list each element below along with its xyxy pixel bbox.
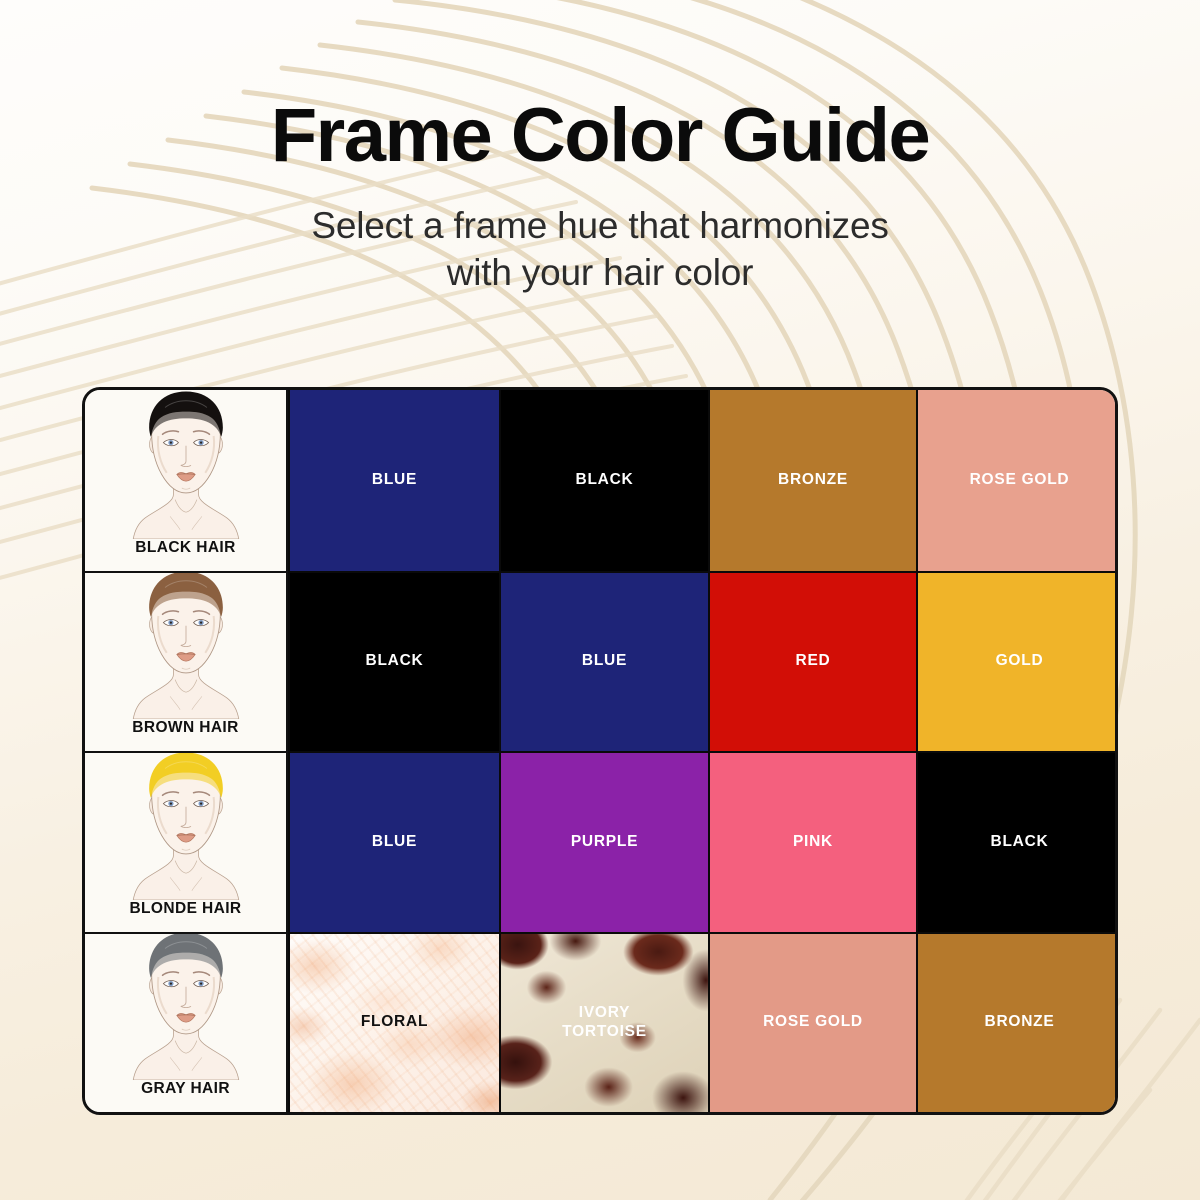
swatch-label: BLACK xyxy=(576,471,634,490)
frame-color-swatch[interactable]: PINK xyxy=(708,751,916,932)
frame-color-swatch[interactable]: BLACK xyxy=(916,751,1118,932)
hair-type-label: GRAY HAIR xyxy=(141,1080,230,1100)
swatch-label: BLACK xyxy=(366,652,424,671)
subtitle-line-1: Select a frame hue that harmonizes xyxy=(0,202,1200,249)
swatch-label: BLUE xyxy=(582,652,627,671)
hair-type-label: BLACK HAIR xyxy=(135,539,235,559)
frame-color-swatch[interactable]: FLORAL xyxy=(288,932,499,1113)
hair-type-cell[interactable]: BROWN HAIR xyxy=(85,571,288,752)
frame-color-swatch[interactable]: BRONZE xyxy=(916,932,1118,1113)
swatch-label: IVORYTORTOISE xyxy=(562,1004,647,1042)
header: Frame Color Guide Select a frame hue tha… xyxy=(0,96,1200,297)
hair-type-label: BLONDE HAIR xyxy=(129,900,241,920)
frame-color-swatch[interactable]: RED xyxy=(708,571,916,752)
frame-color-matrix: BLACK HAIRBLUEBLACKBRONZEROSE GOLD xyxy=(82,387,1118,1115)
frame-color-swatch[interactable]: IVORYTORTOISE xyxy=(499,932,708,1113)
swatch-label: BLUE xyxy=(372,833,417,852)
frame-color-swatch[interactable]: BLUE xyxy=(499,571,708,752)
subtitle-line-2: with your hair color xyxy=(0,249,1200,296)
frame-color-swatch[interactable]: BLUE xyxy=(288,751,499,932)
matrix-grid: BLACK HAIRBLUEBLACKBRONZEROSE GOLD xyxy=(85,390,1115,1112)
poster-canvas: Frame Color Guide Select a frame hue tha… xyxy=(0,0,1200,1200)
swatch-label: BRONZE xyxy=(778,471,848,490)
face-illustration xyxy=(85,751,286,900)
swatch-label: FLORAL xyxy=(361,1013,428,1032)
swatch-label: PURPLE xyxy=(571,833,638,852)
frame-color-swatch[interactable]: GOLD xyxy=(916,571,1118,752)
hair-type-label: BROWN HAIR xyxy=(132,719,238,739)
swatch-label: ROSE GOLD xyxy=(970,471,1070,490)
frame-color-swatch[interactable]: ROSE GOLD xyxy=(708,932,916,1113)
page-title: Frame Color Guide xyxy=(0,96,1200,176)
swatch-label: BLUE xyxy=(372,471,417,490)
hair-type-cell[interactable]: BLONDE HAIR xyxy=(85,751,288,932)
face-illustration xyxy=(85,571,286,720)
face-illustration xyxy=(85,390,286,539)
face-illustration xyxy=(85,932,286,1081)
frame-color-swatch[interactable]: BLUE xyxy=(288,390,499,571)
frame-color-swatch[interactable]: ROSE GOLD xyxy=(916,390,1118,571)
frame-color-swatch[interactable]: BLACK xyxy=(499,390,708,571)
swatch-label: PINK xyxy=(793,833,833,852)
page-subtitle: Select a frame hue that harmonizes with … xyxy=(0,202,1200,297)
hair-type-cell[interactable]: GRAY HAIR xyxy=(85,932,288,1113)
frame-color-swatch[interactable]: PURPLE xyxy=(499,751,708,932)
hair-type-cell[interactable]: BLACK HAIR xyxy=(85,390,288,571)
swatch-label: RED xyxy=(796,652,831,671)
swatch-label: GOLD xyxy=(996,652,1044,671)
swatch-label: ROSE GOLD xyxy=(763,1013,863,1032)
frame-color-swatch[interactable]: BLACK xyxy=(288,571,499,752)
swatch-label: BRONZE xyxy=(985,1013,1055,1032)
frame-color-swatch[interactable]: BRONZE xyxy=(708,390,916,571)
swatch-label: BLACK xyxy=(991,833,1049,852)
